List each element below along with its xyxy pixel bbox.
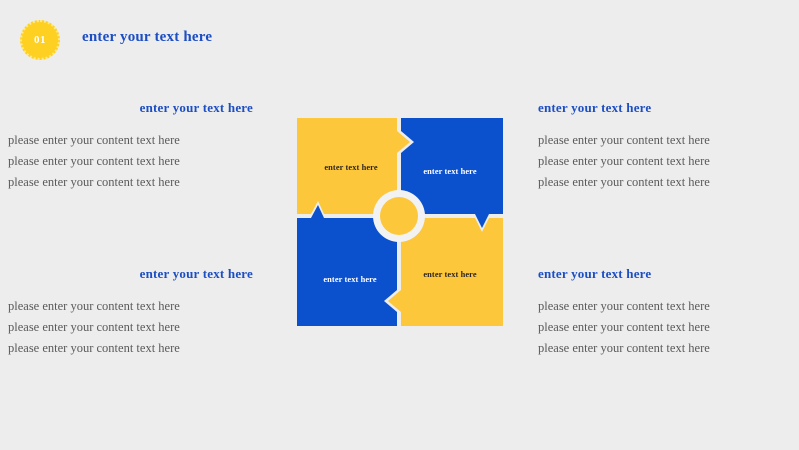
block-heading-bottom-right: enter your text here xyxy=(538,266,783,282)
list-item: please enter your content text here xyxy=(538,130,783,151)
page-title: enter your text here xyxy=(82,29,212,46)
block-heading-top-right: enter your text here xyxy=(538,100,783,116)
puzzle-tile-label-top-left: enter text here xyxy=(324,163,377,172)
list-item: please enter your content text here xyxy=(8,296,253,317)
text-block-top-right: enter your text here please enter your c… xyxy=(538,100,783,193)
step-number-label: 01 xyxy=(34,34,46,46)
list-item: please enter your content text here xyxy=(8,338,253,359)
list-item: please enter your content text here xyxy=(8,130,253,151)
list-item: please enter your content text here xyxy=(538,338,783,359)
puzzle-tile-label-bottom-right: enter text here xyxy=(423,270,476,279)
puzzle-tile-label-top-right: enter text here xyxy=(423,167,476,176)
block-heading-top-left: enter your text here xyxy=(8,100,253,116)
list-item: please enter your content text here xyxy=(538,151,783,172)
list-item: please enter your content text here xyxy=(538,172,783,193)
puzzle-diagram: enter text here enter text here enter te… xyxy=(297,118,503,326)
list-item: please enter your content text here xyxy=(8,172,253,193)
block-lines-bottom-left: please enter your content text here plea… xyxy=(8,296,253,359)
puzzle-tile-label-bottom-left: enter text here xyxy=(323,275,376,284)
block-lines-top-left: please enter your content text here plea… xyxy=(8,130,253,193)
list-item: please enter your content text here xyxy=(8,151,253,172)
block-lines-bottom-right: please enter your content text here plea… xyxy=(538,296,783,359)
yellow-circle-hub-icon[interactable] xyxy=(380,197,418,235)
text-block-bottom-left: enter your text here please enter your c… xyxy=(8,266,253,359)
step-number-badge-icon: 01 xyxy=(20,20,60,60)
list-item: please enter your content text here xyxy=(538,296,783,317)
text-block-bottom-right: enter your text here please enter your c… xyxy=(538,266,783,359)
block-heading-bottom-left: enter your text here xyxy=(8,266,253,282)
slide-header: 01 enter your text here xyxy=(0,0,799,80)
text-block-top-left: enter your text here please enter your c… xyxy=(8,100,253,193)
block-lines-top-right: please enter your content text here plea… xyxy=(538,130,783,193)
list-item: please enter your content text here xyxy=(538,317,783,338)
list-item: please enter your content text here xyxy=(8,317,253,338)
